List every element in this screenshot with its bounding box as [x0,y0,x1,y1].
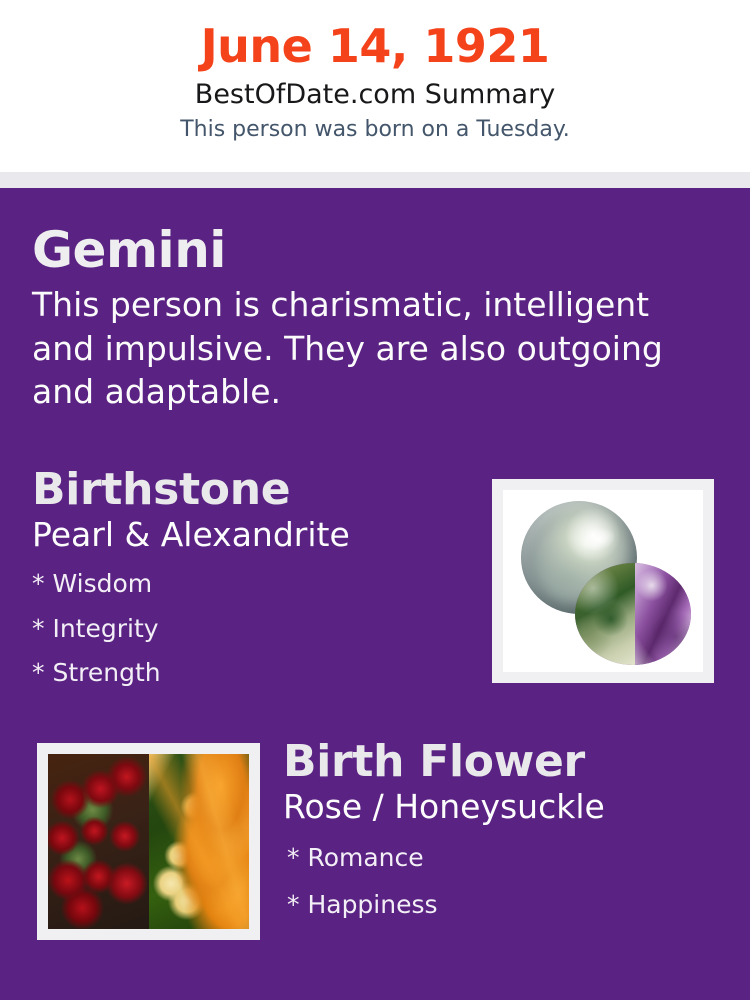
birthstone-trait: * Strength [32,659,482,688]
birth-flower-heading: Birth Flower [283,738,723,786]
site-summary-label: BestOfDate.com Summary [195,79,555,111]
zodiac-sign-name: Gemini [32,223,712,277]
birthstone-image-frame [492,479,714,683]
birth-flower-image [48,754,249,929]
birth-flower-image-frame [37,743,260,940]
alexandrite-gem-icon [575,563,691,665]
birthstone-value: Pearl & Alexandrite [32,516,482,554]
details-panel: Gemini This person is charismatic, intel… [0,188,750,1000]
birthstone-section: Birthstone Pearl & Alexandrite * Wisdom … [32,466,482,688]
summary-card: June 14, 1921 BestOfDate.com Summary Thi… [0,0,750,1000]
birth-flower-trait: * Romance [287,844,723,873]
header-divider [0,172,750,188]
alexandrite-green-half [575,563,635,665]
zodiac-description: This person is charismatic, intelligent … [32,283,698,414]
born-weekday-text: This person was born on a Tuesday. [180,117,570,143]
red-roses-photo [48,754,149,929]
birth-flower-value: Rose / Honeysuckle [283,788,723,826]
birthstone-heading: Birthstone [32,466,482,514]
page-title: June 14, 1921 [201,22,550,71]
zodiac-section: Gemini This person is charismatic, intel… [32,223,712,414]
honeysuckle-photo [149,754,250,929]
birthstone-trait: * Integrity [32,615,482,644]
birthstone-image [503,490,703,672]
card-header: June 14, 1921 BestOfDate.com Summary Thi… [0,0,750,172]
birth-flower-section: Birth Flower Rose / Honeysuckle * Romanc… [283,738,723,919]
birthstone-trait: * Wisdom [32,570,482,599]
alexandrite-purple-half [635,563,691,665]
birth-flower-trait: * Happiness [287,891,723,920]
